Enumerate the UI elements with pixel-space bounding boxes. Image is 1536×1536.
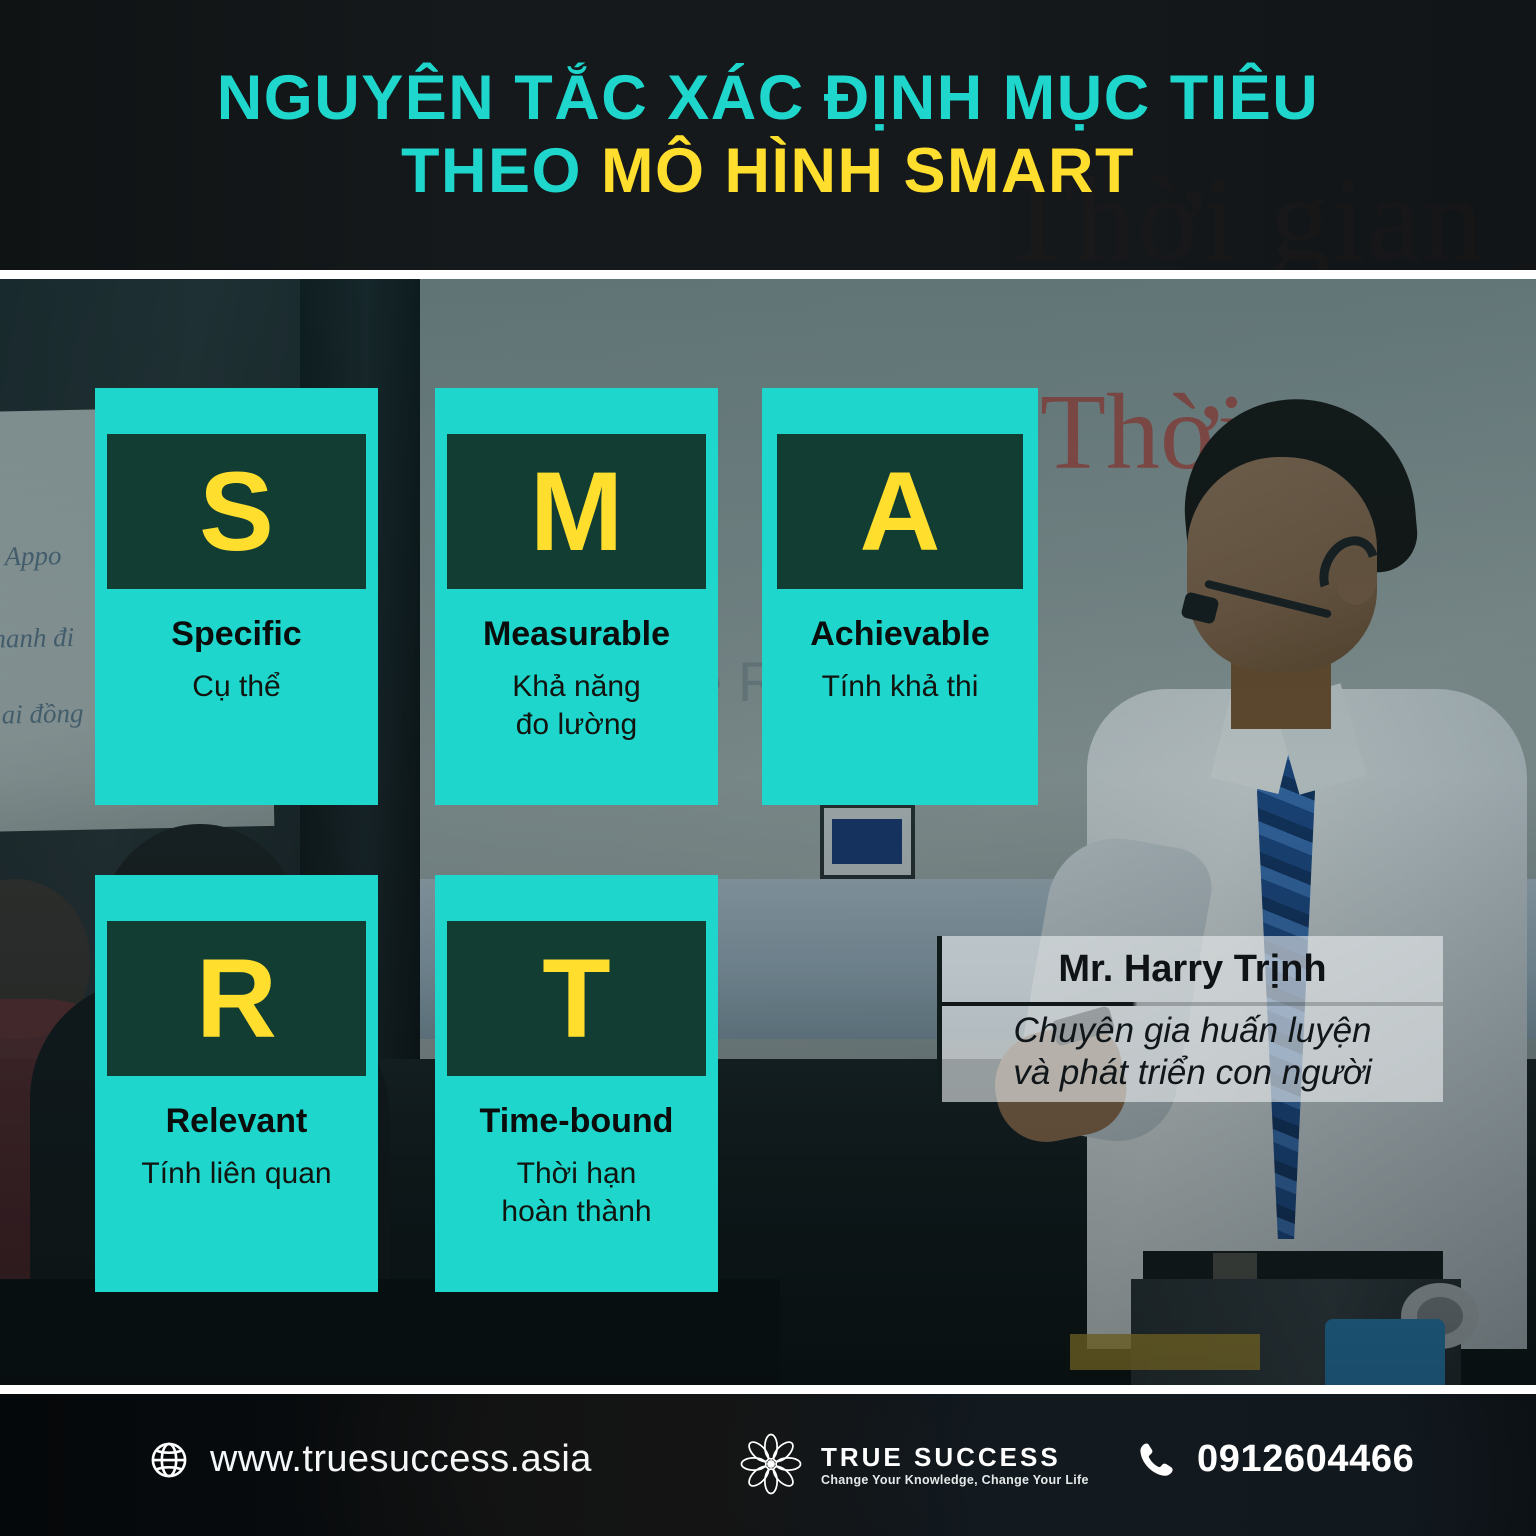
letter-box-s: S: [107, 434, 366, 589]
smart-card-achievable[interactable]: A Achievable Tính khả thi: [762, 388, 1038, 805]
divider-top: [0, 270, 1536, 279]
card-letter-s: S: [199, 456, 274, 568]
card-letter-a: A: [860, 456, 941, 568]
speaker-name: Mr. Harry Trịnh: [942, 948, 1443, 991]
footer-phone-text: 0912604466: [1197, 1438, 1414, 1481]
title-line-2-teal: THEO: [401, 136, 601, 206]
card-title-time-bound: Time-bound: [435, 1103, 718, 1140]
header-band: Thời gian NGUYÊN TẮC XÁC ĐỊNH MỤC TIÊU T…: [0, 0, 1536, 270]
card-subtitle-line: Khả năng: [435, 668, 718, 706]
speaker-caption: Mr. Harry Trịnh Chuyên gia huấn luyện và…: [937, 936, 1443, 1102]
globe-icon: [148, 1439, 190, 1481]
card-subtitle-line: Tính khả thi: [762, 668, 1038, 706]
card-title-specific: Specific: [95, 616, 378, 653]
smart-card-time-bound[interactable]: T Time-bound Thời hạn hoàn thành: [435, 875, 718, 1292]
speaker-role: Chuyên gia huấn luyện và phát triển con …: [942, 1010, 1443, 1094]
flower-mandala-logo-icon: [735, 1428, 807, 1500]
letter-box-m: M: [447, 434, 706, 589]
smart-card-measurable[interactable]: M Measurable Khả năng đo lường: [435, 388, 718, 805]
letter-box-a: A: [777, 434, 1023, 589]
card-subtitle-line: hoàn thành: [435, 1193, 718, 1231]
card-subtitle-relevant: Tính liên quan: [95, 1155, 378, 1193]
footer-bar: www.truesuccess.asia TRUE SUCCESS C: [0, 1394, 1536, 1536]
smart-card-specific[interactable]: S Specific Cụ thể: [95, 388, 378, 805]
card-letter-m: M: [530, 456, 623, 568]
title-line-2-yellow: MÔ HÌNH SMART: [601, 136, 1135, 206]
card-subtitle-line: Tính liên quan: [95, 1155, 378, 1193]
divider-bottom: [0, 1385, 1536, 1394]
footer-phone[interactable]: 0912604466: [1135, 1438, 1414, 1481]
smart-card-relevant[interactable]: R Relevant Tính liên quan: [95, 875, 378, 1292]
phone-icon: [1135, 1439, 1177, 1481]
letter-box-t: T: [447, 921, 706, 1076]
card-subtitle-specific: Cụ thể: [95, 668, 378, 706]
card-subtitle-achievable: Tính khả thi: [762, 668, 1038, 706]
footer-website-text: www.truesuccess.asia: [210, 1438, 592, 1481]
card-title-measurable: Measurable: [435, 616, 718, 653]
card-subtitle-measurable: Khả năng đo lường: [435, 668, 718, 745]
footer-website[interactable]: www.truesuccess.asia: [148, 1438, 592, 1481]
card-letter-t: T: [542, 943, 610, 1055]
card-subtitle-line: đo lường: [435, 706, 718, 744]
footer-logo-text: TRUE SUCCESS Change Your Knowledge, Chan…: [821, 1442, 1089, 1487]
page-title: NGUYÊN TẮC XÁC ĐỊNH MỤC TIÊU THEO MÔ HÌN…: [0, 0, 1536, 270]
card-subtitle-line: Thời hạn: [435, 1155, 718, 1193]
card-subtitle-line: Cụ thể: [95, 668, 378, 706]
speaker-role-line-1: Chuyên gia huấn luyện: [942, 1010, 1443, 1052]
letter-box-r: R: [107, 921, 366, 1076]
title-line-1: NGUYÊN TẮC XÁC ĐỊNH MỤC TIÊU: [217, 62, 1320, 135]
card-title-achievable: Achievable: [762, 616, 1038, 653]
title-line-2: THEO MÔ HÌNH SMART: [401, 135, 1135, 208]
card-subtitle-time-bound: Thời hạn hoàn thành: [435, 1155, 718, 1232]
smart-goals-infographic: Thời g ối Từ ne Root ty Appo nanh đi ng …: [0, 0, 1536, 1536]
footer-logo-tagline: Change Your Knowledge, Change Your Life: [821, 1473, 1089, 1487]
footer-logo[interactable]: TRUE SUCCESS Change Your Knowledge, Chan…: [735, 1428, 1089, 1500]
speaker-role-line-2: và phát triển con người: [942, 1052, 1443, 1094]
caption-divider: [942, 1002, 1443, 1006]
card-letter-r: R: [196, 943, 277, 1055]
footer-logo-name: TRUE SUCCESS: [821, 1442, 1089, 1473]
card-title-relevant: Relevant: [95, 1103, 378, 1140]
